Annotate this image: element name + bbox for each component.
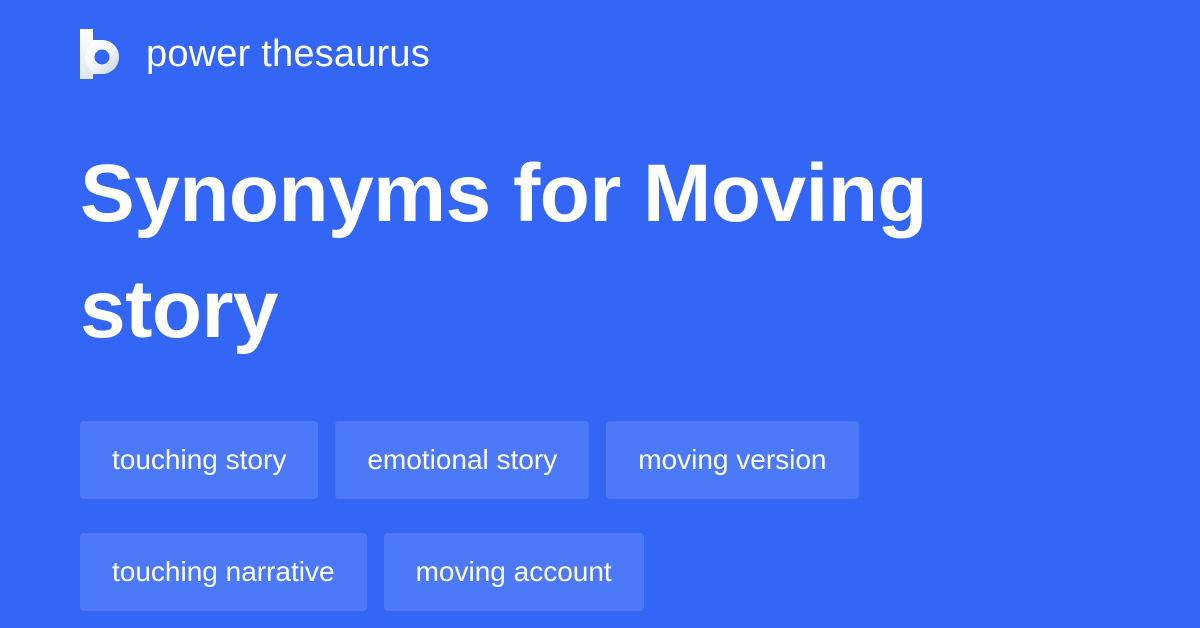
brand-name: power thesaurus [146,35,430,73]
synonym-chip[interactable]: touching story [80,421,318,499]
synonym-chip[interactable]: moving account [384,533,644,611]
power-thesaurus-logo-icon [80,29,124,79]
synonym-chip[interactable]: emotional story [335,421,589,499]
synonym-chip[interactable]: touching narrative [80,533,367,611]
page-title-line-1: Synonyms for Moving [80,136,1080,252]
synonym-chip[interactable]: moving version [606,421,858,499]
synonyms-share-card: power thesaurus Synonyms for Moving stor… [0,0,1200,628]
brand-header[interactable]: power thesaurus [80,26,430,82]
synonym-chip-list: touching story emotional story moving ve… [80,421,1120,611]
page-title-line-2: story [80,252,1080,368]
page-title: Synonyms for Moving story [80,136,1080,369]
